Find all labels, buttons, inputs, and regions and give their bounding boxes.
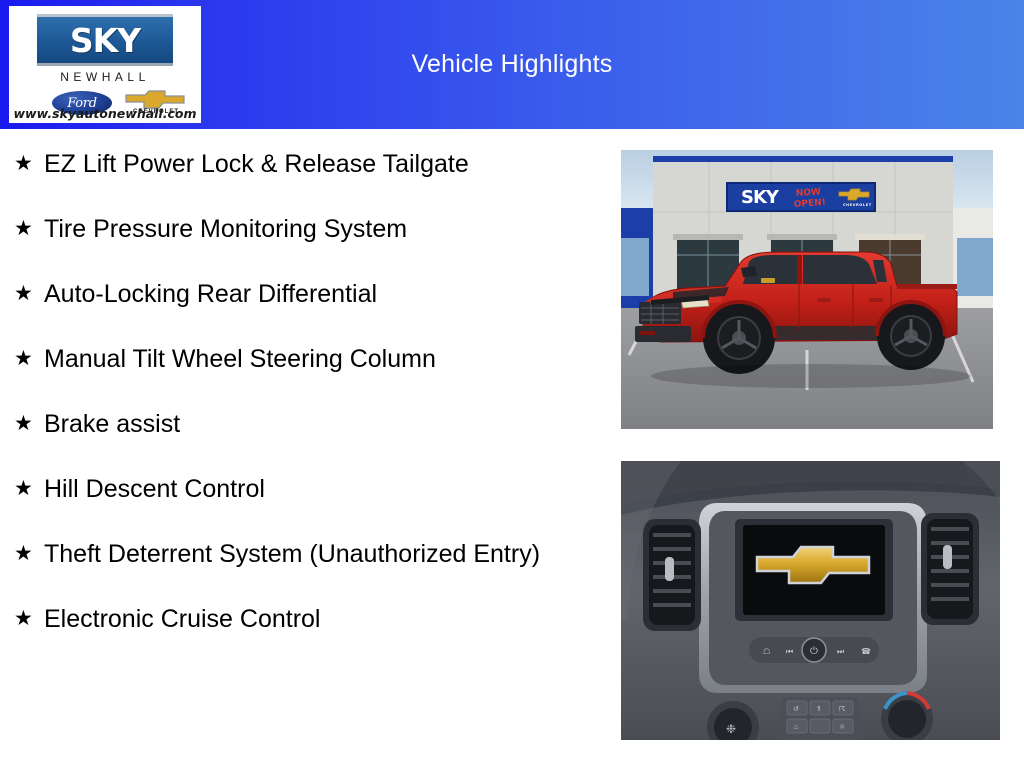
svg-text:☎: ☎ [861,647,871,656]
list-item: ★ Tire Pressure Monitoring System [10,213,585,246]
svg-text:☈: ☈ [839,705,845,713]
highlight-text: Manual Tilt Wheel Steering Column [44,343,585,376]
slide: Vehicle Highlights SKY NEWHALL Ford CHEV… [0,0,1024,768]
svg-text:⏭: ⏭ [837,647,844,656]
list-item: ★ Auto-Locking Rear Differential [10,278,585,311]
list-item: ★ Hill Descent Control [10,473,585,506]
dealer-logo-inner: SKY NEWHALL Ford CHEVROLET www.skyautone… [9,6,201,123]
highlight-text: EZ Lift Power Lock & Release Tailgate [44,148,585,181]
dealer-location-text: NEWHALL [9,70,201,84]
svg-text:NOW: NOW [796,187,822,199]
highlights-list: ★ EZ Lift Power Lock & Release Tailgate … [10,148,585,668]
star-bullet-icon: ★ [10,408,44,438]
interior-dashboard-photo-graphic: ⏻ ☖ ⏮ ⏭ ☎ ↺ ⇑ ☈ ♨ ☼ [621,461,1000,740]
dealer-website-url: www.skyautonewhall.com [9,106,201,121]
list-item: ★ Manual Tilt Wheel Steering Column [10,343,585,376]
svg-text:☼: ☼ [839,723,845,731]
svg-text:SKY: SKY [741,187,780,208]
svg-text:↺: ↺ [793,705,799,713]
highlight-text: Tire Pressure Monitoring System [44,213,585,246]
list-item: ★ Theft Deterrent System (Unauthorized E… [10,538,585,571]
star-bullet-icon: ★ [10,538,44,568]
highlight-text: Brake assist [44,408,585,441]
star-bullet-icon: ★ [10,473,44,503]
star-bullet-icon: ★ [10,148,44,178]
svg-text:⏻: ⏻ [810,646,818,657]
star-bullet-icon: ★ [10,603,44,633]
svg-text:☖: ☖ [763,647,770,656]
star-bullet-icon: ★ [10,278,44,308]
svg-text:⏮: ⏮ [786,647,793,656]
svg-text:⇑: ⇑ [816,705,822,713]
list-item: ★ EZ Lift Power Lock & Release Tailgate [10,148,585,181]
list-item: ★ Brake assist [10,408,585,441]
exterior-truck-photo-graphic: SKY NOW OPEN! CHEVROLET [621,150,993,429]
sky-brand-text: SKY [70,24,140,57]
highlight-text: Electronic Cruise Control [44,603,585,636]
dealer-logo: SKY NEWHALL Ford CHEVROLET www.skyautone… [9,6,201,123]
list-item: ★ Electronic Cruise Control [10,603,585,636]
svg-text:CHEVROLET: CHEVROLET [843,203,872,207]
highlight-text: Auto-Locking Rear Differential [44,278,585,311]
svg-text:❉: ❉ [726,722,736,736]
svg-text:♨: ♨ [793,723,799,731]
highlight-text: Hill Descent Control [44,473,585,506]
star-bullet-icon: ★ [10,343,44,373]
highlight-text: Theft Deterrent System (Unauthorized Ent… [44,538,585,571]
interior-dashboard-photo: ⏻ ☖ ⏮ ⏭ ☎ ↺ ⇑ ☈ ♨ ☼ [621,461,1000,740]
star-bullet-icon: ★ [10,213,44,243]
exterior-truck-photo: SKY NOW OPEN! CHEVROLET [621,150,993,429]
sky-wordmark-plate: SKY [37,14,173,66]
